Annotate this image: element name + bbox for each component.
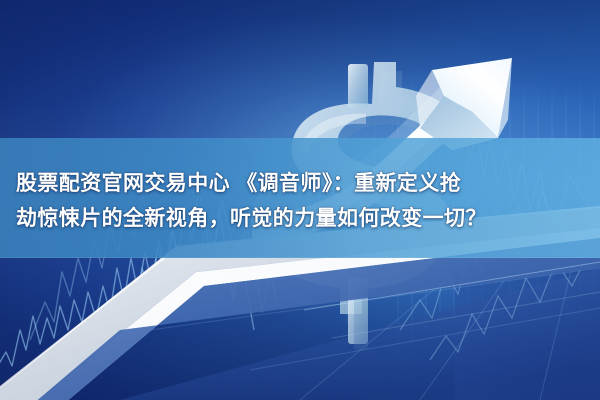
headline-line-2: 劫惊悚片的全新视角，听觉的力量如何改变一切？ [16, 201, 584, 236]
headline-text: 股票配资官网交易中心 《调音师》：重新定义抢 劫惊悚片的全新视角，听觉的力量如何… [16, 166, 584, 236]
headline-line-1: 股票配资官网交易中心 《调音师》：重新定义抢 [16, 166, 584, 201]
banner-image: 股票配资官网交易中心 《调音师》：重新定义抢 劫惊悚片的全新视角，听觉的力量如何… [0, 0, 600, 400]
